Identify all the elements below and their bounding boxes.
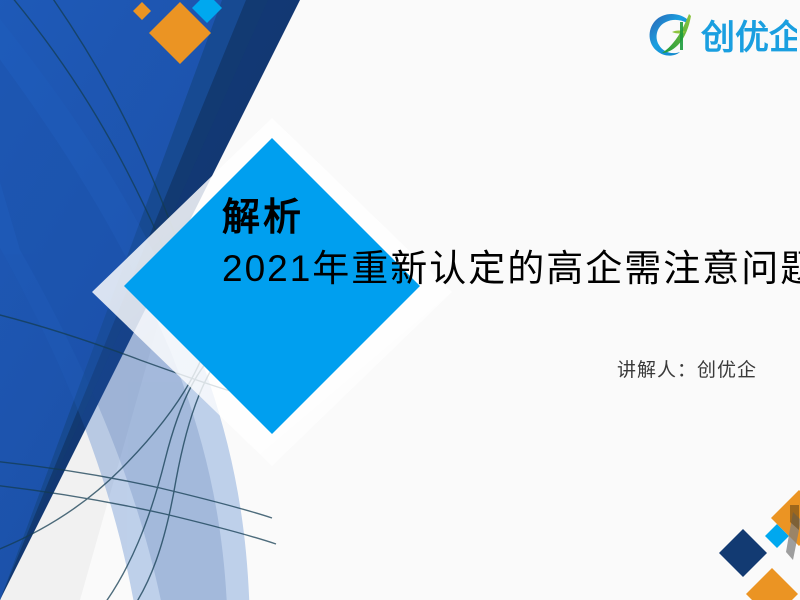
page-subtitle: 2021年重新认定的高企需注意问题 (222, 246, 800, 292)
brand-logo: 创优企 (645, 8, 795, 66)
logo-text-glyphs: 创优企 (701, 18, 797, 57)
presenter-label: 讲解人：创优企 (0, 355, 757, 382)
presentation-slide: 创优企 解析 2021年重新认定的高企需注意问题 讲解人：创优企 (0, 0, 800, 600)
page-title: 解析 (222, 196, 304, 240)
title-block: 解析 2021年重新认定的高企需注意问题 (150, 196, 790, 326)
chuangyouqi-logo-icon (645, 10, 701, 62)
logo-text: 创优企 (701, 12, 797, 60)
